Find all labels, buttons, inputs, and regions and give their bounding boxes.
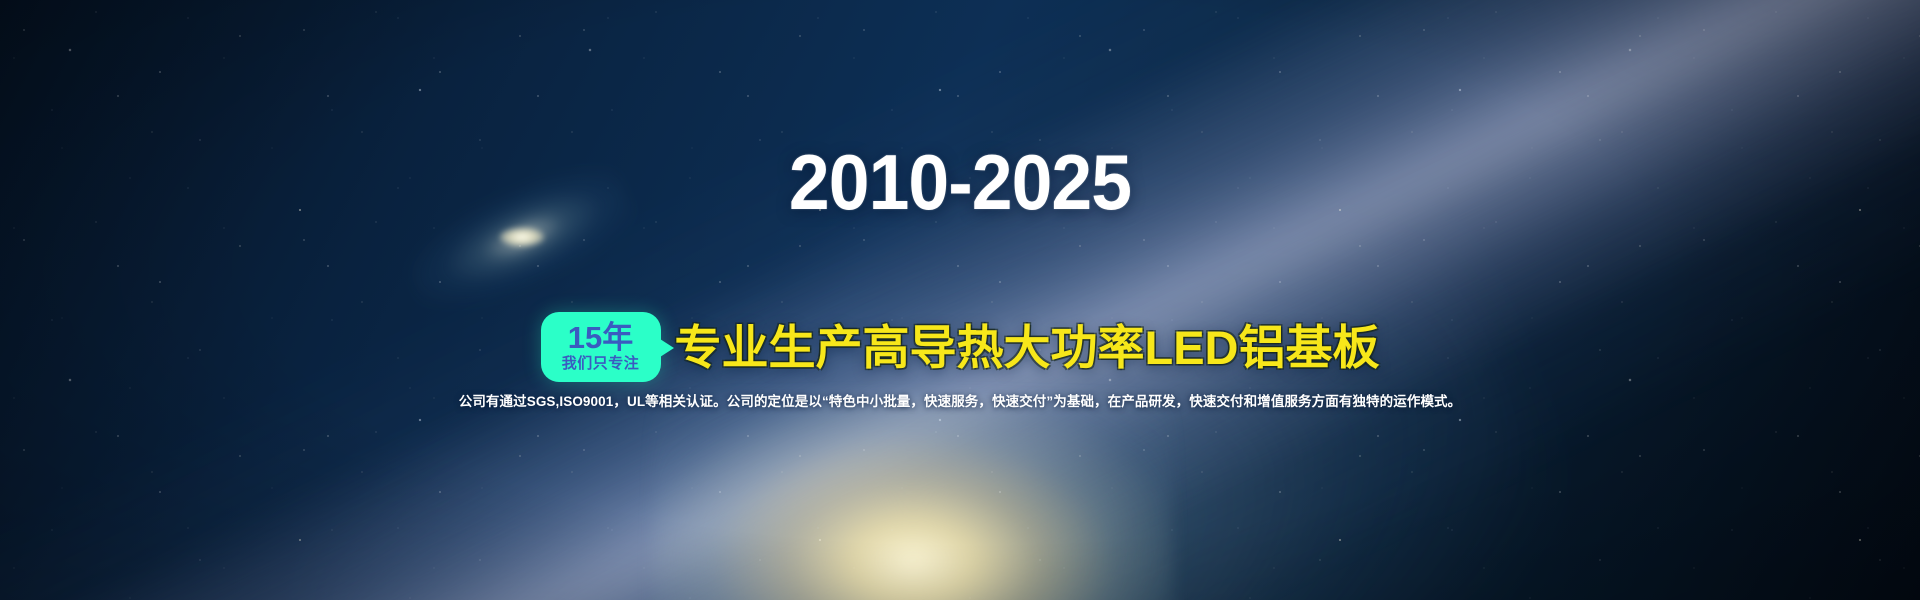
main-headline: 专业生产高导热大功率LED铝基板 [675, 324, 1380, 371]
hero-banner: 2010-2025 15年 我们只专注 专业生产高导热大功率LED铝基板 公司有… [0, 0, 1920, 600]
badge-years-label: 15年 [568, 322, 633, 355]
tagline-row: 15年 我们只专注 专业生产高导热大功率LED铝基板 [0, 312, 1920, 382]
company-description: 公司有通过SGS,ISO9001，UL等相关认证。公司的定位是以“特色中小批量，… [0, 390, 1920, 410]
badge-subtitle-label: 我们只专注 [562, 355, 640, 372]
year-range-title: 2010-2025 [58, 143, 1863, 221]
banner-content: 2010-2025 15年 我们只专注 专业生产高导热大功率LED铝基板 公司有… [0, 0, 1920, 600]
anniversary-badge: 15年 我们只专注 [541, 312, 661, 382]
